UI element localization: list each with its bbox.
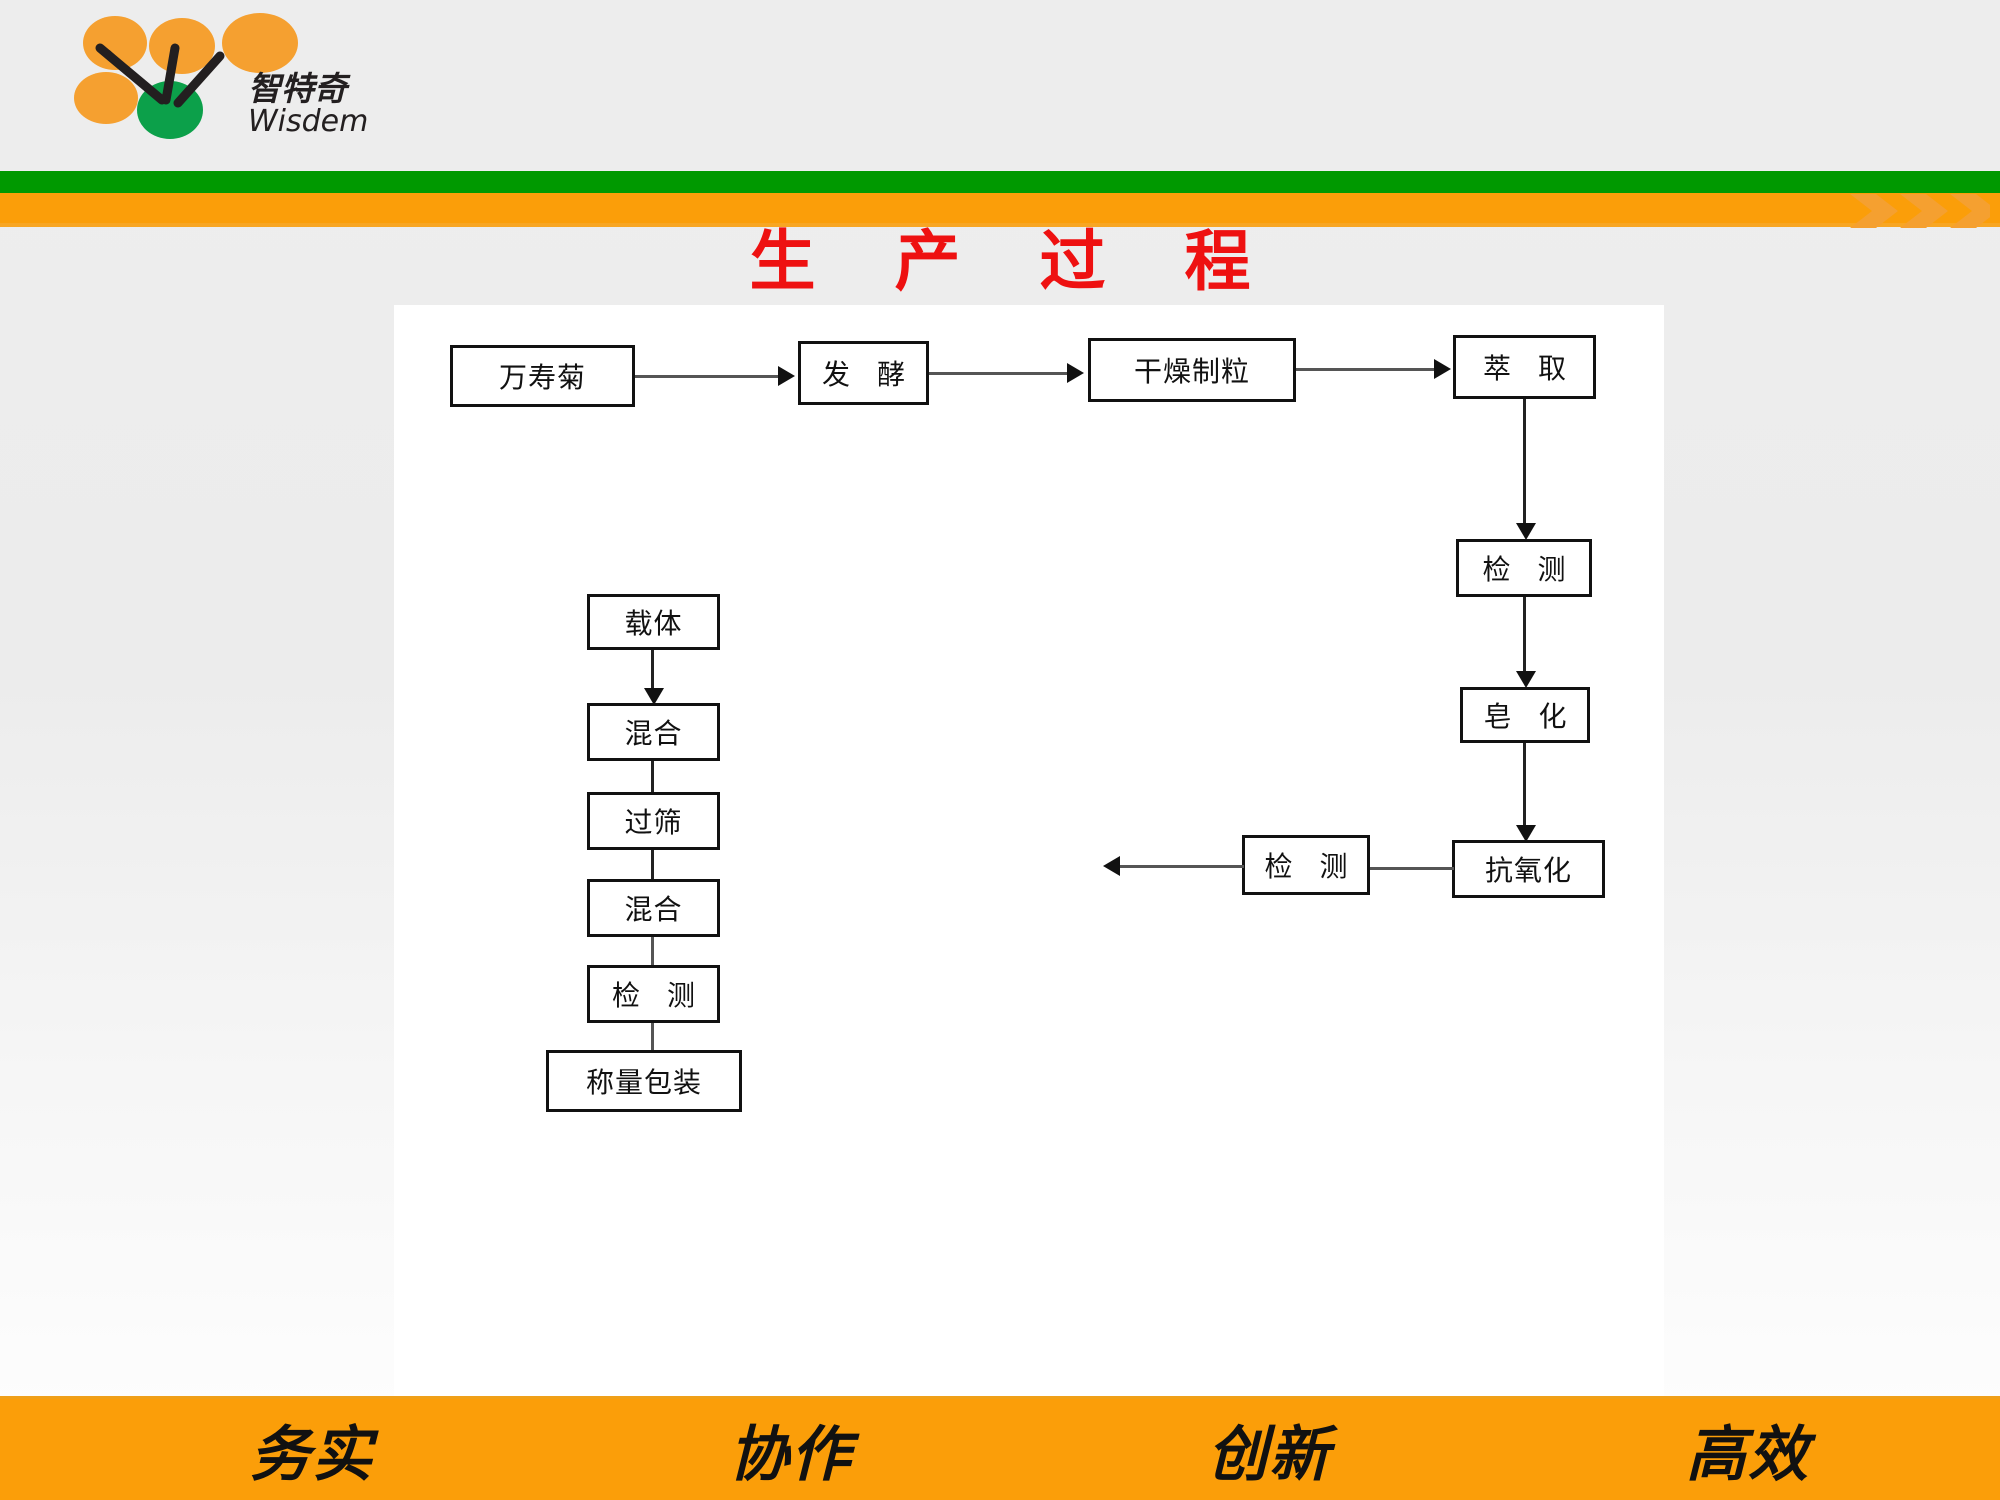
connector-saponify-antioxidant xyxy=(1523,743,1526,827)
footer-word-1: 务实 xyxy=(250,1406,374,1493)
node-label: 干燥制粒 xyxy=(1134,350,1250,390)
footer-word-3: 创新 xyxy=(1207,1406,1331,1493)
page-title: 生 产 过 程 xyxy=(0,228,2000,294)
arrowhead-to-extraction xyxy=(1434,359,1451,379)
node-packaging[interactable]: 称量包装 xyxy=(546,1050,742,1112)
connector-marigold-fermentation xyxy=(635,375,780,378)
logo-en-text: Wisdem xyxy=(248,104,368,139)
node-saponification[interactable]: 皂 化 xyxy=(1460,687,1590,743)
node-carrier[interactable]: 载体 xyxy=(587,594,720,650)
connector-antioxidant-test2 xyxy=(1369,867,1454,870)
footer-word-4: 高效 xyxy=(1686,1406,1810,1493)
node-label: 混合 xyxy=(624,712,682,752)
footer-word-2: 协作 xyxy=(729,1406,853,1493)
connector-fermentation-drying xyxy=(929,372,1069,375)
node-label: 载体 xyxy=(624,602,682,642)
logo-cn-text: 智特奇 xyxy=(248,69,351,108)
node-extraction[interactable]: 萃 取 xyxy=(1453,335,1596,399)
footer-band: 务实 协作 创新 高效 xyxy=(0,1396,2000,1500)
node-mix-2[interactable]: 混合 xyxy=(587,879,720,937)
arrowhead-to-saponify xyxy=(1516,671,1536,688)
node-fermentation[interactable]: 发 酵 xyxy=(798,341,929,405)
chevron-decoration-icon xyxy=(1850,190,1990,232)
flowchart-canvas: 万寿菊 发 酵 干燥制粒 萃 取 检 测 皂 化 xyxy=(394,305,1664,1400)
logo-mark-icon: 智特奇 Wisdem xyxy=(70,8,370,148)
node-mix-1[interactable]: 混合 xyxy=(587,703,720,761)
connector-test1-saponify xyxy=(1523,597,1526,673)
connector-drying-extraction xyxy=(1296,368,1436,371)
node-antioxidant[interactable]: 抗氧化 xyxy=(1452,840,1605,898)
node-label: 发 酵 xyxy=(813,353,914,393)
node-label: 过筛 xyxy=(624,801,682,841)
node-drying[interactable]: 干燥制粒 xyxy=(1088,338,1296,402)
arrowhead-to-mix1 xyxy=(1103,856,1120,876)
connector-test2-mix1 xyxy=(1120,865,1244,868)
node-sieve[interactable]: 过筛 xyxy=(587,792,720,850)
node-test-2[interactable]: 检 测 xyxy=(1242,835,1370,895)
node-label: 检 测 xyxy=(1474,548,1575,588)
slide: 智特奇 Wisdem 生 产 过 程 万寿菊 发 酵 干燥制粒 萃 取 xyxy=(0,0,2000,1500)
node-test-3[interactable]: 检 测 xyxy=(587,965,720,1023)
node-label: 称量包装 xyxy=(586,1061,702,1101)
company-logo: 智特奇 Wisdem xyxy=(70,8,370,148)
green-divider xyxy=(0,171,2000,193)
node-label: 皂 化 xyxy=(1475,695,1576,735)
node-label: 检 测 xyxy=(603,974,704,1014)
node-marigold[interactable]: 万寿菊 xyxy=(450,345,635,407)
connector-extraction-test1 xyxy=(1523,399,1526,525)
node-label: 检 测 xyxy=(1256,845,1357,885)
node-test-1[interactable]: 检 测 xyxy=(1456,539,1592,597)
footer-slogans: 务实 协作 创新 高效 xyxy=(250,1399,1810,1500)
arrowhead-to-test1 xyxy=(1516,523,1536,540)
arrowhead-to-fermentation xyxy=(778,366,795,386)
orange-divider xyxy=(0,193,2000,223)
node-label: 萃 取 xyxy=(1474,347,1575,387)
node-label: 抗氧化 xyxy=(1485,849,1572,889)
connector-carrier-mix1 xyxy=(651,650,654,691)
node-label: 万寿菊 xyxy=(499,356,586,396)
arrowhead-to-drying xyxy=(1067,363,1084,383)
node-label: 混合 xyxy=(624,888,682,928)
